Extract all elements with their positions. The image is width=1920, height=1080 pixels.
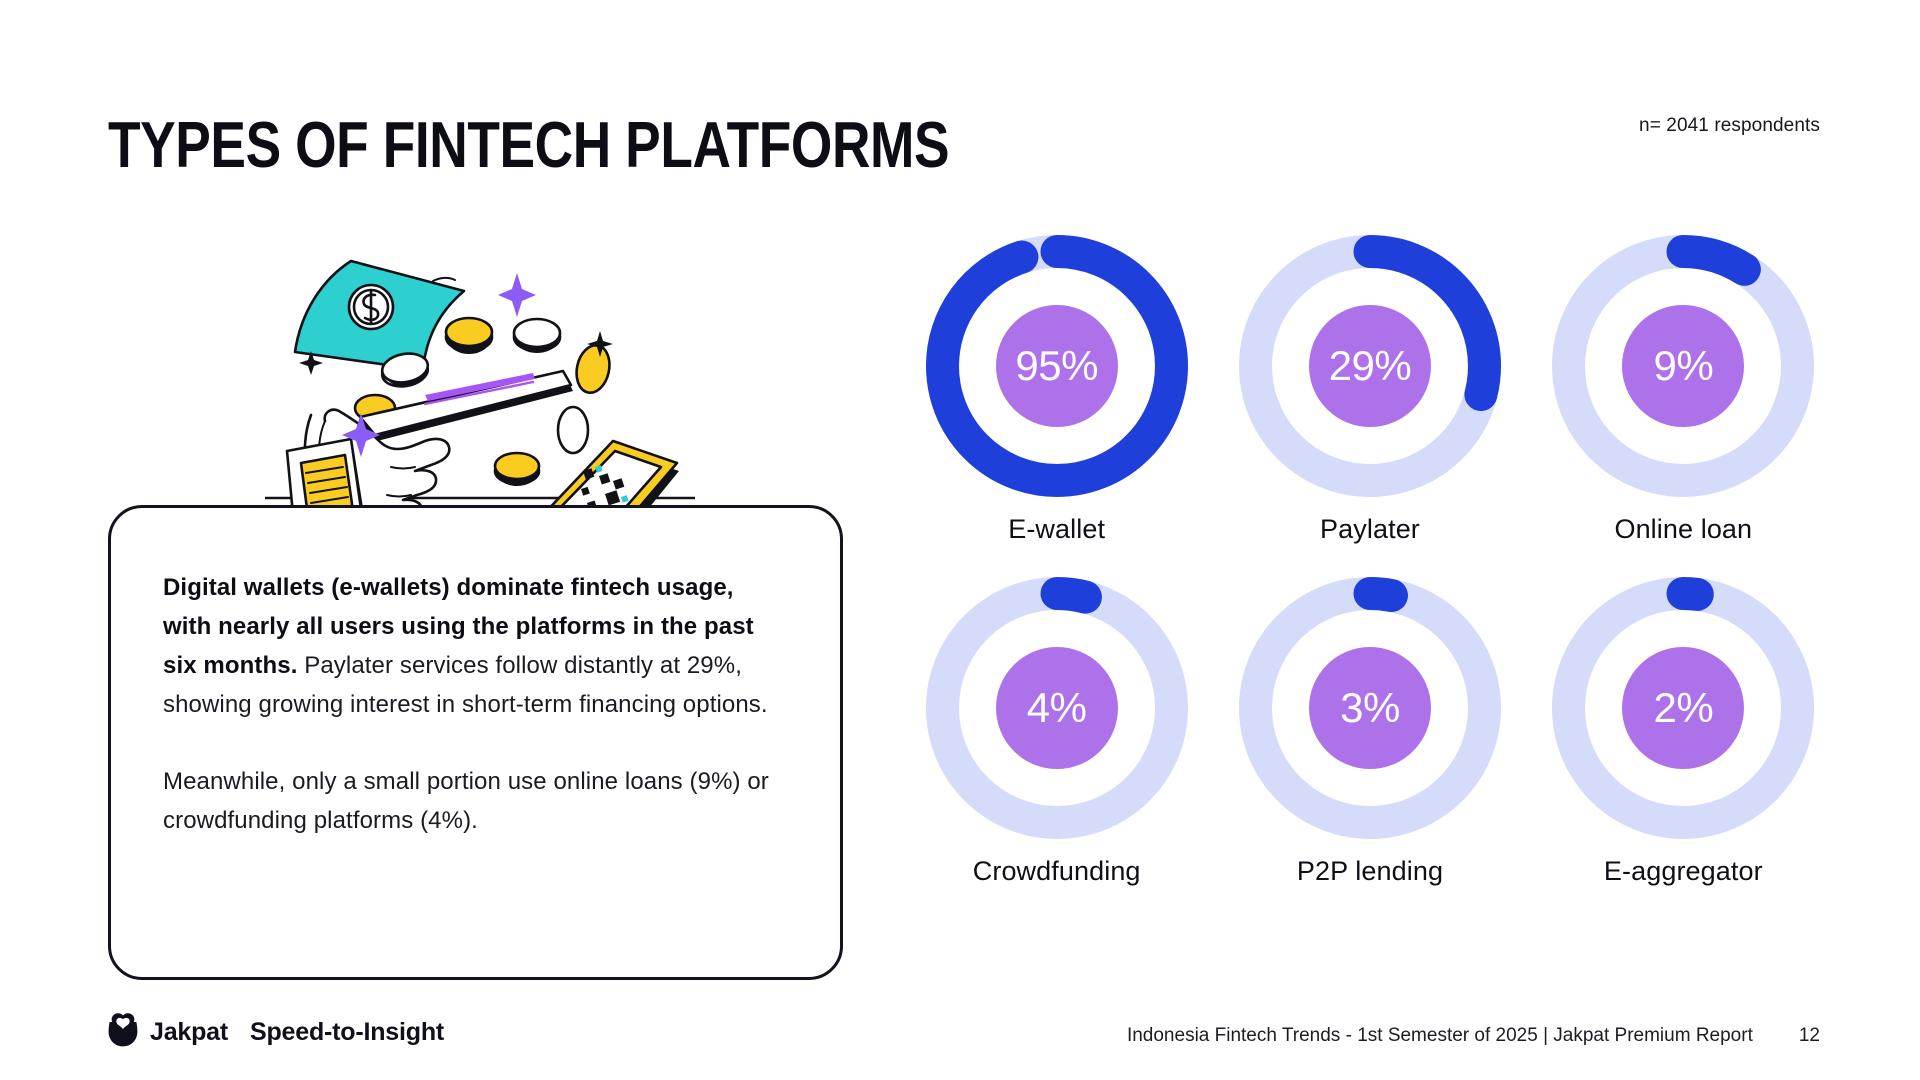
donut-gauge: 95% bbox=[926, 235, 1188, 497]
donut-value: 9% bbox=[1653, 345, 1713, 387]
donut-value: 29% bbox=[1329, 345, 1412, 387]
fintech-platform-donut-grid: 95%E-wallet29%Paylater9%Online loan4%Cro… bbox=[900, 235, 1840, 887]
donut-label: Paylater bbox=[1320, 514, 1420, 545]
footer-meta: Indonesia Fintech Trends - 1st Semester … bbox=[1127, 1025, 1820, 1047]
donut-cell-e-aggregator: 2%E-aggregator bbox=[1533, 577, 1833, 887]
donut-label: P2P lending bbox=[1297, 856, 1443, 887]
footer-page-number: 12 bbox=[1799, 1025, 1820, 1047]
donut-cell-crowdfunding: 4%Crowdfunding bbox=[907, 577, 1207, 887]
slide-canvas: TYPES OF FINTECH PLATFORMS n= 2041 respo… bbox=[0, 0, 1920, 1080]
donut-gauge: 3% bbox=[1239, 577, 1501, 839]
donut-label: Crowdfunding bbox=[973, 856, 1141, 887]
jakpat-owl-logo-icon bbox=[108, 1013, 138, 1052]
donut-center-bubble: 4% bbox=[996, 647, 1118, 769]
insight-paragraph-1: Digital wallets (e-wallets) dominate fin… bbox=[163, 568, 788, 724]
donut-center-bubble: 95% bbox=[996, 305, 1118, 427]
donut-gauge: 29% bbox=[1239, 235, 1501, 497]
donut-label: Online loan bbox=[1614, 514, 1752, 545]
donut-gauge: 9% bbox=[1552, 235, 1814, 497]
brand-tagline: Speed-to-Insight bbox=[250, 1018, 444, 1047]
footer-caption: Indonesia Fintech Trends - 1st Semester … bbox=[1127, 1025, 1753, 1047]
donut-center-bubble: 29% bbox=[1309, 305, 1431, 427]
donut-center-bubble: 2% bbox=[1622, 647, 1744, 769]
donut-center-bubble: 9% bbox=[1622, 305, 1744, 427]
respondents-note: n= 2041 respondents bbox=[1639, 115, 1820, 137]
donut-center-bubble: 3% bbox=[1309, 647, 1431, 769]
donut-gauge: 2% bbox=[1552, 577, 1814, 839]
donut-value: 2% bbox=[1653, 687, 1713, 729]
donut-value: 95% bbox=[1015, 345, 1098, 387]
donut-value: 3% bbox=[1340, 687, 1400, 729]
donut-cell-online-loan: 9%Online loan bbox=[1533, 235, 1833, 545]
donut-gauge: 4% bbox=[926, 577, 1188, 839]
donut-label: E-wallet bbox=[1008, 514, 1105, 545]
donut-label: E-aggregator bbox=[1604, 856, 1763, 887]
insight-paragraph-2: Meanwhile, only a small portion use onli… bbox=[163, 762, 788, 840]
insight-card: Digital wallets (e-wallets) dominate fin… bbox=[108, 505, 843, 980]
footer-brand: Jakpat Speed-to-Insight bbox=[108, 1013, 444, 1052]
donut-cell-paylater: 29%Paylater bbox=[1220, 235, 1520, 545]
donut-cell-p2p-lending: 3%P2P lending bbox=[1220, 577, 1520, 887]
brand-name: Jakpat bbox=[150, 1018, 228, 1047]
page-title: TYPES OF FINTECH PLATFORMS bbox=[108, 112, 949, 177]
donut-value: 4% bbox=[1027, 687, 1087, 729]
donut-cell-e-wallet: 95%E-wallet bbox=[907, 235, 1207, 545]
